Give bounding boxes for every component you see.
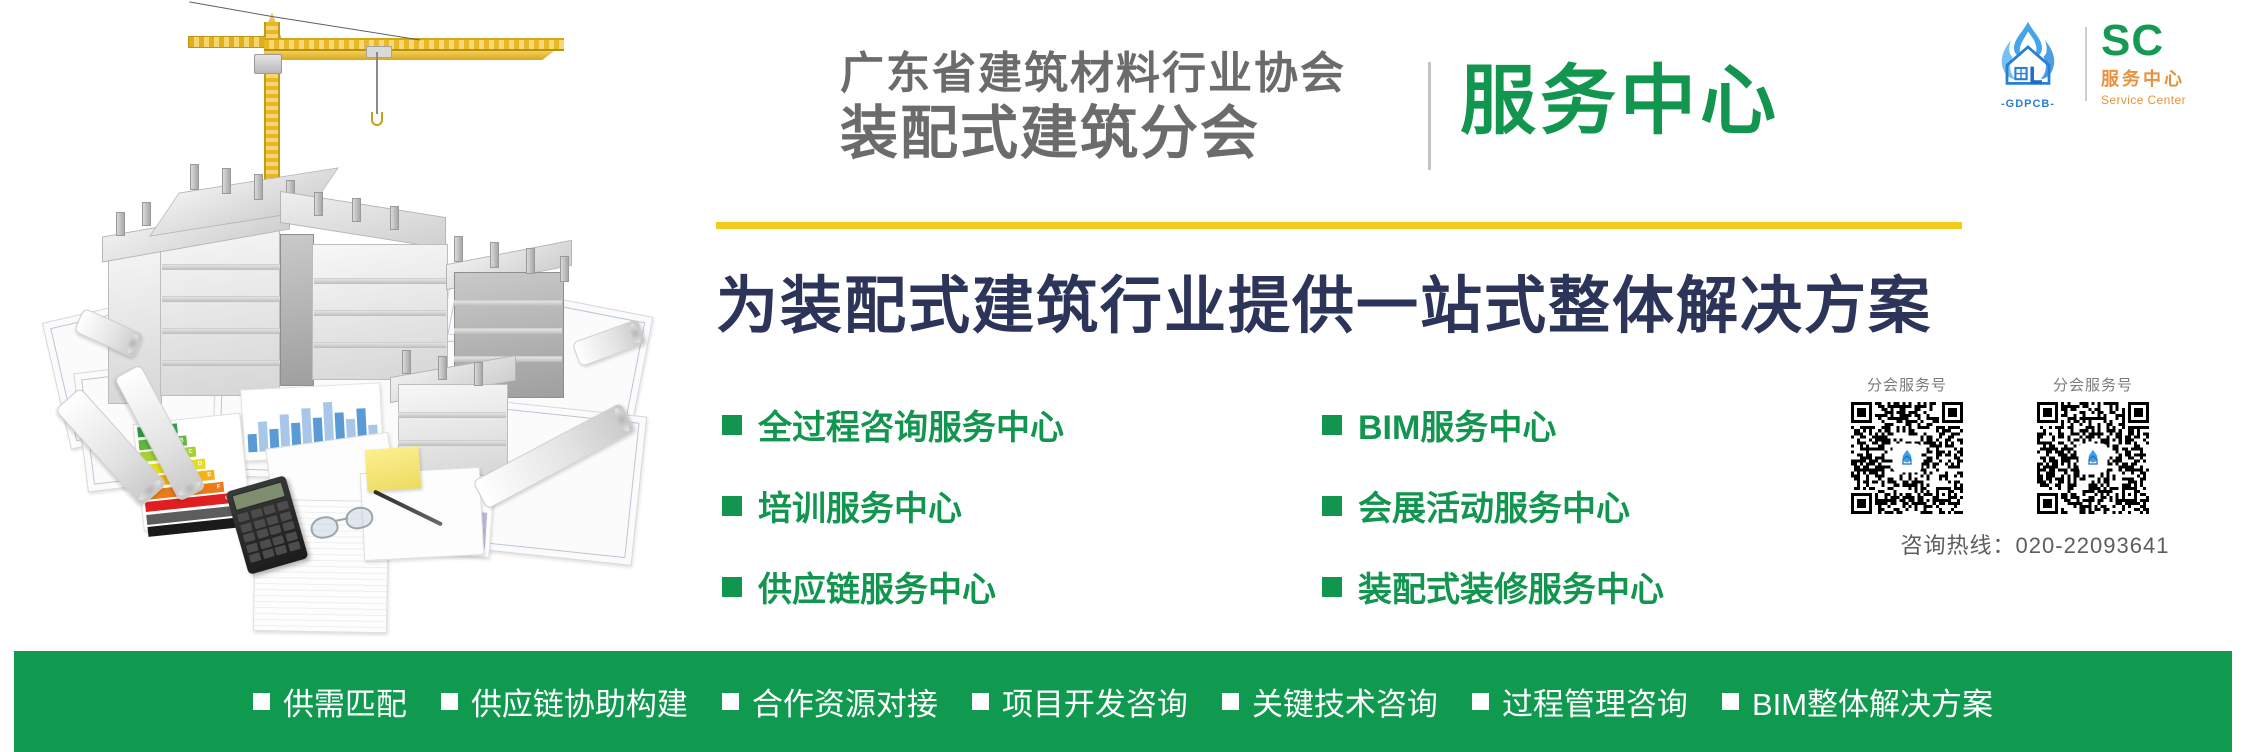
- page-headline: 为装配式建筑行业提供一站式整体解决方案: [716, 255, 1932, 345]
- bottom-tag[interactable]: 过程管理咨询: [1455, 679, 1705, 724]
- bottom-tag-label: 合作资源对接: [752, 679, 938, 724]
- square-bullet-icon: [722, 693, 739, 710]
- square-bullet-icon: [722, 496, 742, 516]
- logo-text-block: SC 服务中心 Service Center: [2101, 21, 2186, 106]
- square-bullet-icon: [1322, 496, 1342, 516]
- logo-divider: [2085, 27, 2087, 101]
- bottom-tag[interactable]: 供需匹配: [236, 679, 424, 724]
- service-item-label: 装配式装修服务中心: [1358, 562, 1664, 611]
- service-item[interactable]: 全过程咨询服务中心: [722, 400, 1322, 449]
- bottom-tag-label: 供需匹配: [283, 679, 407, 724]
- qr-code-label: 分会服务号: [2018, 374, 2168, 395]
- square-bullet-icon: [253, 693, 270, 710]
- yellow-divider-rule: [716, 222, 1962, 229]
- service-item[interactable]: 装配式装修服务中心: [1322, 562, 1822, 611]
- square-bullet-icon: [1472, 693, 1489, 710]
- bottom-tag-label: BIM整体解决方案: [1752, 679, 1993, 724]
- service-center-list: 全过程咨询服务中心 BIM服务中心 培训服务中心 会展活动服务中心 供应链服务中…: [722, 400, 1822, 611]
- qr-code-image[interactable]: [1851, 402, 1963, 514]
- service-item[interactable]: BIM服务中心: [1322, 400, 1822, 449]
- square-bullet-icon: [441, 693, 458, 710]
- bottom-tag[interactable]: 关键技术咨询: [1205, 679, 1455, 724]
- service-center-title: 服务中心: [1460, 62, 1780, 142]
- brand-logo: -GDPCB- SC 服务中心 Service Center: [1985, 14, 2235, 114]
- service-item-label: 供应链服务中心: [758, 562, 996, 611]
- bottom-tag[interactable]: BIM整体解决方案: [1705, 679, 2010, 724]
- flame-house-icon: [1993, 18, 2063, 90]
- service-item[interactable]: 供应链服务中心: [722, 562, 1322, 611]
- bottom-tag[interactable]: 合作资源对接: [705, 679, 955, 724]
- square-bullet-icon: [722, 577, 742, 597]
- square-bullet-icon: [722, 415, 742, 435]
- hotline-text: 咨询热线：020-22093641: [1832, 528, 2232, 560]
- qr-code-area: 分会服务号 分会服务号: [1832, 374, 2232, 560]
- service-item[interactable]: 培训服务中心: [722, 481, 1322, 530]
- sticky-note: [365, 446, 422, 492]
- service-item-label: 会展活动服务中心: [1358, 481, 1630, 530]
- service-item-label: 培训服务中心: [758, 481, 962, 530]
- logo-sc-text: SC: [2101, 21, 2186, 61]
- bottom-tag-label: 供应链协助构建: [471, 679, 688, 724]
- association-title-block: 广东省建筑材料行业协会 装配式建筑分会: [840, 48, 1440, 166]
- logo-chinese-text: 服务中心: [2101, 65, 2186, 91]
- bottom-tag-label: 项目开发咨询: [1002, 679, 1188, 724]
- bottom-tag[interactable]: 项目开发咨询: [955, 679, 1205, 724]
- qr-center-logo: [2080, 445, 2106, 471]
- title-divider: [1428, 62, 1431, 170]
- logo-mark-label: -GDPCB-: [1985, 98, 2071, 110]
- logo-english-text: Service Center: [2101, 93, 2186, 107]
- flame-house-icon: [2083, 448, 2103, 468]
- qr-code-label: 分会服务号: [1832, 374, 1982, 395]
- bottom-tag[interactable]: 供应链协助构建: [424, 679, 705, 724]
- service-item-label: BIM服务中心: [1358, 400, 1556, 449]
- construction-hero-image: A B C D E F G H I: [18, 0, 678, 640]
- square-bullet-icon: [1222, 693, 1239, 710]
- qr-code-image[interactable]: [2037, 402, 2149, 514]
- bottom-tag-bar: 供需匹配 供应链协助构建 合作资源对接 项目开发咨询 关键技术咨询 过程管理咨询…: [14, 651, 2232, 752]
- qr-code-block: 分会服务号: [2018, 374, 2168, 514]
- square-bullet-icon: [972, 693, 989, 710]
- association-name-line2: 装配式建筑分会: [840, 102, 1440, 166]
- association-name-line1: 广东省建筑材料行业协会: [840, 48, 1440, 100]
- square-bullet-icon: [1322, 577, 1342, 597]
- qr-code-block: 分会服务号: [1832, 374, 1982, 514]
- bottom-tag-label: 过程管理咨询: [1502, 679, 1688, 724]
- service-item-label: 全过程咨询服务中心: [758, 400, 1064, 449]
- banner-root: A B C D E F G H I: [0, 0, 2246, 752]
- square-bullet-icon: [1322, 415, 1342, 435]
- gdpcb-logo-mark: -GDPCB-: [1985, 16, 2071, 112]
- bottom-tag-label: 关键技术咨询: [1252, 679, 1438, 724]
- qr-center-logo: [1894, 445, 1920, 471]
- service-item[interactable]: 会展活动服务中心: [1322, 481, 1822, 530]
- flame-house-icon: [1897, 448, 1917, 468]
- square-bullet-icon: [1722, 693, 1739, 710]
